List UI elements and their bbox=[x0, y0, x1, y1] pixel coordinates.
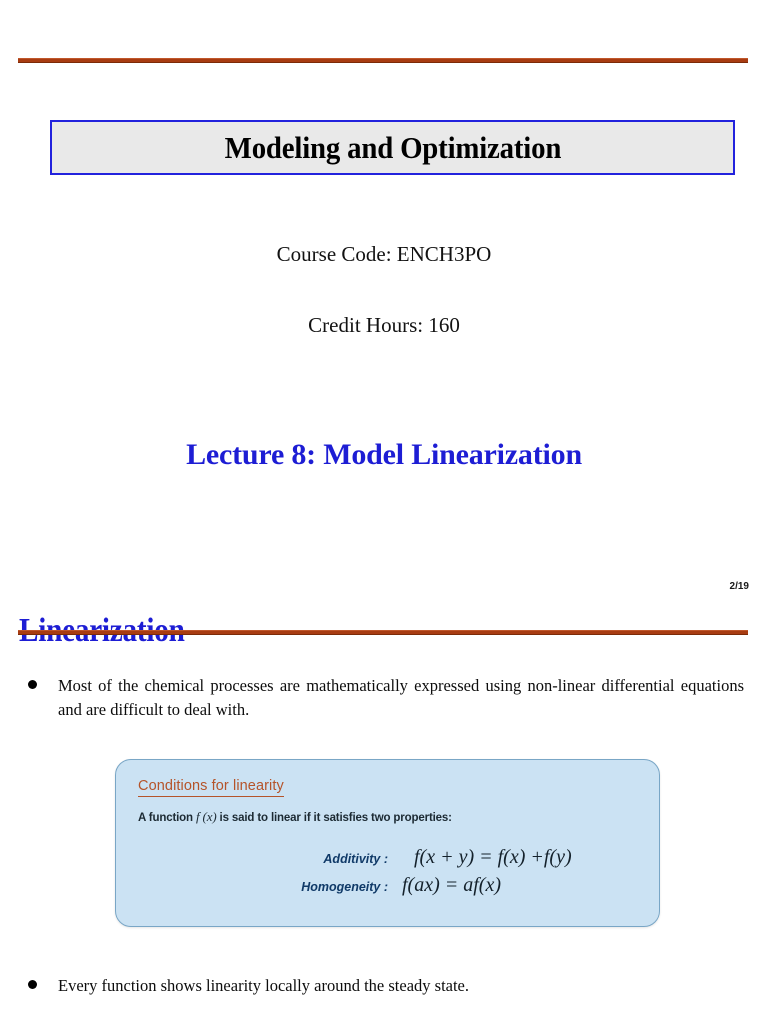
bullet-dot-icon bbox=[28, 680, 37, 689]
property-row-homogeneity: Homogeneity : f(ax) = af(x) bbox=[276, 874, 646, 897]
top-divider-rule bbox=[18, 58, 748, 63]
linearity-properties-list: Additivity : f(x + y) = f(x) +f(y) Homog… bbox=[276, 846, 646, 902]
property-label-homogeneity: Homogeneity : bbox=[276, 880, 388, 894]
property-row-additivity: Additivity : f(x + y) = f(x) +f(y) bbox=[276, 846, 646, 869]
property-formula-homogeneity: f(ax) = af(x) bbox=[402, 874, 501, 897]
callout-title: Conditions for linearity bbox=[138, 778, 284, 797]
list-item-text: Every function shows linearity locally a… bbox=[58, 974, 728, 998]
page-indicator: 2/19 bbox=[730, 581, 749, 592]
list-item: Most of the chemical processes are mathe… bbox=[28, 674, 744, 722]
deck-title-box: Modeling and Optimization bbox=[50, 120, 735, 175]
list-item: Every function shows linearity locally a… bbox=[28, 974, 728, 998]
property-label-additivity: Additivity : bbox=[276, 852, 388, 866]
callout-subtitle-math: f (x) bbox=[196, 809, 217, 824]
callout-subtitle: A function f (x) is said to linear if it… bbox=[138, 809, 452, 825]
list-item-text: Most of the chemical processes are mathe… bbox=[58, 674, 744, 722]
bullet-dot-icon bbox=[28, 980, 37, 989]
deck-title: Modeling and Optimization bbox=[224, 130, 561, 166]
course-code-line: Course Code: ENCH3PO bbox=[0, 242, 768, 267]
section-divider-rule bbox=[18, 630, 748, 635]
callout-subtitle-after: is said to linear if it satisfies two pr… bbox=[217, 812, 452, 824]
property-formula-additivity: f(x + y) = f(x) +f(y) bbox=[414, 846, 572, 869]
linearization-slide: 2/19 Linearization Most of the chemical … bbox=[0, 556, 768, 1024]
title-slide: Modeling and Optimization Course Code: E… bbox=[0, 0, 768, 556]
lecture-title: Lecture 8: Model Linearization bbox=[0, 438, 768, 472]
credit-hours-line: Credit Hours: 160 bbox=[0, 313, 768, 338]
linearity-conditions-callout: Conditions for linearity A function f (x… bbox=[115, 759, 660, 927]
callout-subtitle-before: A function bbox=[138, 812, 196, 824]
